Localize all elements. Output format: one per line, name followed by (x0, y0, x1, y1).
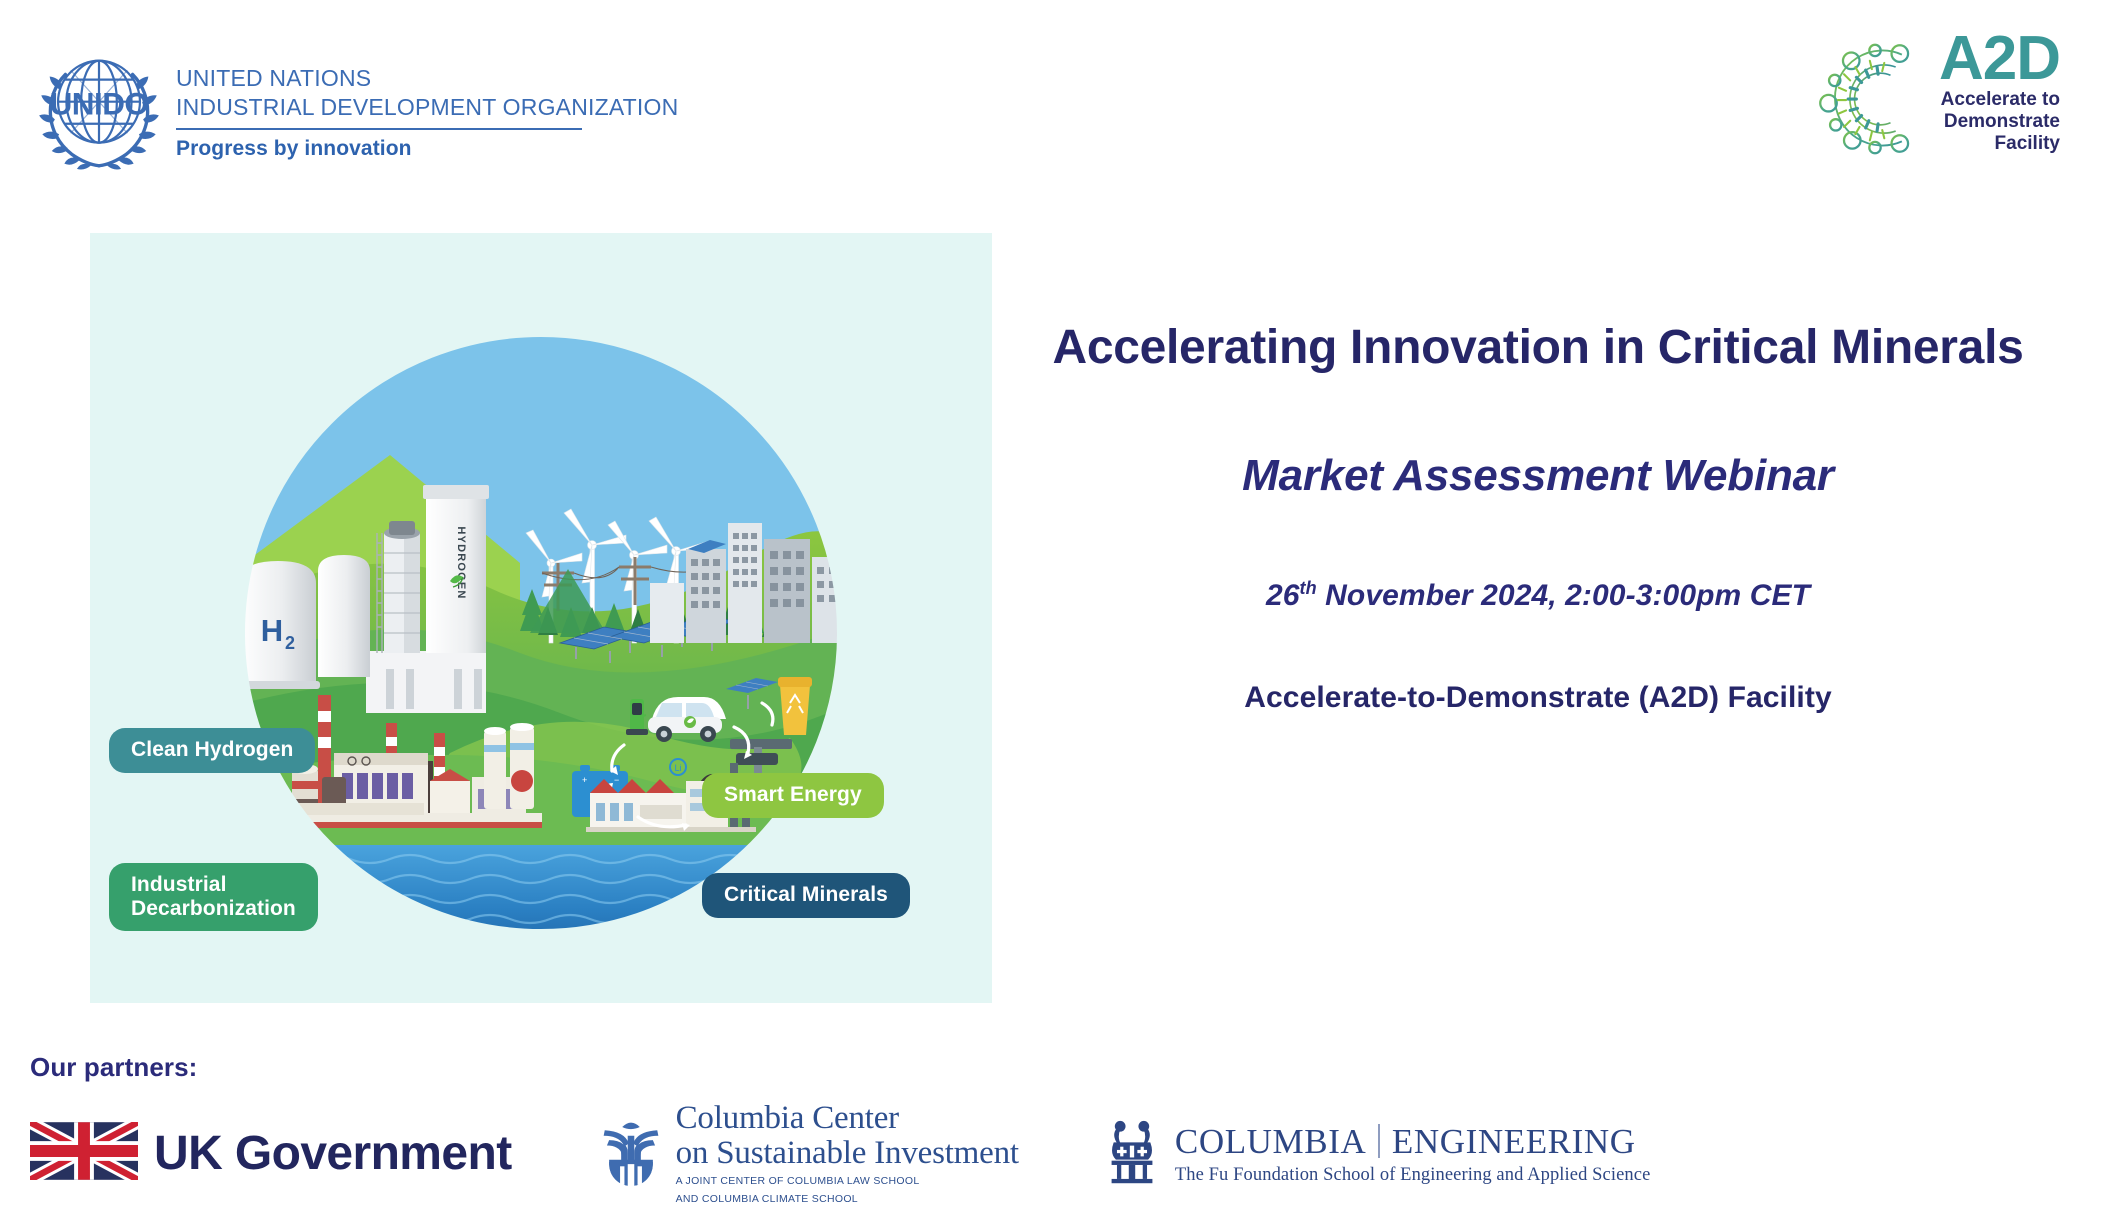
a2d-circular-network-icon (1813, 30, 1937, 165)
webinar-subtitle: Market Assessment Webinar (1032, 451, 2044, 501)
webinar-date-rest: November 2024, 2:00-3:00pm CET (1317, 579, 1810, 612)
svg-text:+: + (582, 775, 587, 785)
unido-line-1: UNITED NATIONS (176, 64, 678, 93)
scene-label-smart-energy: Smart Energy (702, 773, 884, 818)
scene-label-critical-minerals: Critical Minerals (702, 873, 910, 918)
a2d-title: A2D (1939, 30, 2060, 89)
wordmark-divider (1378, 1124, 1380, 1158)
unido-un-emblem-icon: UNIDO (36, 45, 162, 176)
columbia-crown-icon (1103, 1116, 1161, 1191)
unido-tagline: Progress by innovation (176, 137, 678, 161)
partner-columbia-engineering: COLUMBIA ENGINEERING The Fu Foundation S… (1103, 1116, 1651, 1191)
webinar-facility: Accelerate-to-Demonstrate (A2D) Facility (1032, 681, 2044, 715)
webinar-date-ordinal: th (1300, 578, 1317, 598)
union-jack-flag-icon (30, 1122, 138, 1185)
scene-label-clean-hydrogen: Clean Hydrogen (109, 728, 315, 773)
ccsi-line-1: Columbia Center (676, 1101, 1019, 1136)
partners-section: Our partners: UK Government (30, 1052, 2078, 1207)
svg-text:HYDROGEN: HYDROGEN (455, 526, 467, 599)
unido-line-2: INDUSTRIAL DEVELOPMENT ORGANIZATION (176, 93, 678, 122)
partner-ccsi: Columbia Center on Sustainable Investmen… (598, 1101, 1019, 1207)
unido-wordmark: UNITED NATIONS INDUSTRIAL DEVELOPMENT OR… (176, 60, 678, 162)
svg-text:−: − (614, 775, 619, 785)
partners-label: Our partners: (30, 1052, 2078, 1083)
svg-text:H: H (261, 613, 283, 648)
ccsi-sub-1: A JOINT CENTER OF COLUMBIA LAW SCHOOL (676, 1175, 1019, 1189)
ccsi-line-2: on Sustainable Investment (676, 1136, 1019, 1171)
ccsi-sub-2: AND COLUMBIA CLIMATE SCHOOL (676, 1193, 1019, 1207)
partners-row: UK Government (30, 1101, 2078, 1207)
illustration-panel: HYDROGEN (90, 233, 992, 1003)
a2d-sub-2: Demonstrate (1944, 111, 2060, 133)
page-title: Accelerating Innovation in Critical Mine… (1032, 320, 2044, 377)
unido-logo: UNIDO UNITED NATIONS INDUSTRIAL DEVELOPM… (36, 45, 678, 176)
a2d-sub-1: Accelerate to (1941, 89, 2060, 111)
svg-text:Li: Li (674, 763, 681, 773)
webinar-datetime: 26th November 2024, 2:00-3:00pm CET (1032, 579, 2044, 613)
a2d-wordmark: A2D Accelerate to Demonstrate Facility (1939, 30, 2060, 156)
uk-government-name: UK Government (154, 1126, 512, 1181)
scene-label-industrial-decarbonization: Industrial Decarbonization (109, 863, 318, 931)
a2d-sub-3: Facility (1995, 133, 2060, 155)
columbia-word: COLUMBIA (1175, 1124, 1366, 1159)
columbia-ccsi-tree-icon (598, 1116, 664, 1191)
partner-uk-government: UK Government (30, 1122, 512, 1185)
columbia-engineering-wordmark: COLUMBIA ENGINEERING The Fu Foundation S… (1175, 1124, 1651, 1185)
a2d-logo: A2D Accelerate to Demonstrate Facility (1813, 30, 2060, 165)
webinar-date-day: 26 (1266, 579, 1300, 612)
ccsi-wordmark: Columbia Center on Sustainable Investmen… (676, 1101, 1019, 1207)
webinar-text-column: Accelerating Innovation in Critical Mine… (1032, 320, 2044, 715)
columbia-engineering-subtitle: The Fu Foundation School of Engineering … (1175, 1166, 1651, 1185)
svg-text:2: 2 (285, 633, 295, 653)
engineering-word: ENGINEERING (1392, 1124, 1636, 1159)
header-bar: UNIDO UNITED NATIONS INDUSTRIAL DEVELOPM… (0, 0, 2108, 180)
unido-divider (176, 128, 582, 130)
svg-text:UNIDO: UNIDO (50, 85, 149, 121)
